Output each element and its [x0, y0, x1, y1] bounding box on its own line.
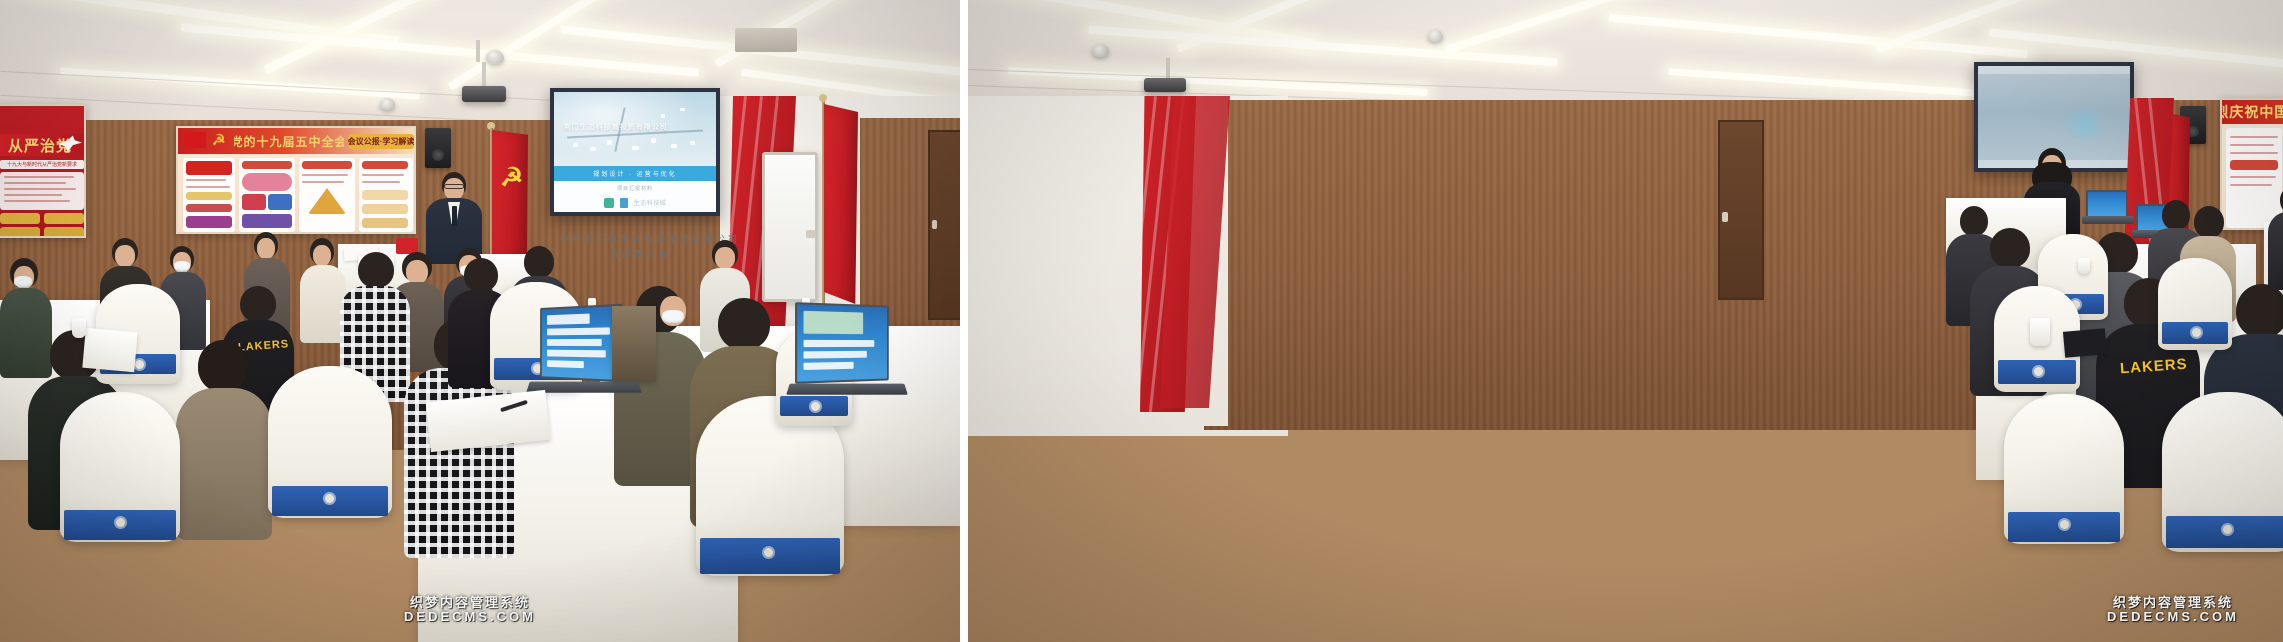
wall-speaker — [425, 128, 451, 168]
door — [1718, 120, 1764, 300]
ceiling-vent — [735, 28, 797, 52]
dome-camera-icon — [486, 50, 504, 64]
chair-sash — [272, 486, 388, 516]
wall-text-line-2: 支部委员会 — [560, 247, 720, 262]
slide-surface: 荆门生态科技城投资有限公司 规划设计 · 运营与优化 项目汇报材料 生态科技城 — [554, 92, 716, 212]
poster-fifth-plenary: ☭ 党的十九届五中全会 会议公报·学习解读 — [176, 126, 416, 234]
flag-finial-right-icon — [819, 94, 827, 102]
poster-strict-governance: 从严治党 十九大与新时代从严治党新要求 — [0, 104, 86, 238]
chair-sash — [64, 510, 176, 540]
slide-logo-row: 生态科技城 — [604, 198, 667, 208]
face-mask-icon — [662, 310, 684, 323]
face-mask-icon — [174, 261, 190, 271]
brochure — [612, 306, 656, 382]
chair-sash — [2162, 322, 2228, 344]
dome-camera-icon — [1092, 44, 1109, 57]
paper-cup — [2030, 318, 2050, 346]
attendee — [176, 340, 272, 540]
chair-sash — [780, 396, 848, 416]
attendee — [2268, 186, 2283, 290]
slide-aerial-render: 荆门生态科技城投资有限公司 — [554, 92, 716, 166]
party-emblem-icon: ☭ — [212, 133, 225, 148]
projector-mount — [1166, 58, 1170, 80]
projector-mount — [482, 62, 486, 88]
national-flag-right — [824, 104, 858, 304]
poster-main-chip: 会议公报·学习解读 — [348, 134, 414, 149]
slide-title: 荆门生态科技城投资有限公司 — [564, 122, 668, 132]
chair-sash — [2166, 516, 2283, 548]
ceiling-projector — [1144, 78, 1186, 92]
slide-logo-text: 生态科技城 — [634, 198, 667, 207]
watermark-right: 织梦内容管理系统 DEDECMS.COM — [2058, 596, 2283, 623]
poster-centenary-title: 热烈庆祝中国共产党成立100周年 — [2222, 102, 2283, 122]
photo-divider — [960, 0, 968, 642]
whiteboard — [762, 152, 818, 302]
door-handle — [932, 220, 937, 229]
paper-cup — [72, 318, 86, 338]
ceiling-sensor-icon — [1428, 30, 1443, 42]
watermark-cn: 织梦内容管理系统 — [2058, 596, 2283, 610]
laptop-keyboard — [786, 384, 908, 395]
logo-mark-green-icon — [604, 198, 614, 208]
glasses-icon — [444, 184, 464, 189]
projection-screen: 荆门生态科技城投资有限公司 规划设计 · 运营与优化 项目汇报材料 生态科技城 — [550, 88, 720, 216]
wall-text-line-1: 中共荆门生态科技城投资有限公司 — [560, 232, 720, 247]
laptop-screen — [795, 302, 889, 384]
tablet — [2063, 328, 2107, 358]
laptop-screen — [2086, 190, 2128, 218]
left-photo: 荆门生态科技城投资有限公司 规划设计 · 运营与优化 项目汇报材料 生态科技城 … — [0, 0, 960, 642]
face-mask-icon — [14, 276, 32, 287]
chair-sash — [2008, 512, 2120, 542]
necktie — [452, 206, 457, 226]
logo-mark-blue-icon — [620, 198, 628, 208]
notebook — [82, 328, 137, 372]
ceiling-projector — [462, 86, 506, 102]
paper-cup — [2078, 258, 2090, 274]
chair-sash — [1998, 360, 2076, 384]
door-handle — [1722, 212, 1728, 222]
poster-red-subtitle: 十九大与新时代从严治党新要求 — [0, 160, 84, 169]
laptop-screen — [540, 304, 623, 382]
slide-subtitle: 项目汇报材料 — [617, 185, 653, 192]
laptop-keyboard — [2082, 216, 2134, 224]
poster-main-title: 党的十九届五中全会 — [234, 132, 344, 150]
whiteboard-tray — [806, 230, 816, 238]
right-photo: 中共荆门生 热烈庆祝中国共产党成立100周年 ☭ — [968, 0, 2283, 642]
chair-sash — [700, 538, 840, 574]
watermark-en: DEDECMS.COM — [2058, 610, 2283, 624]
slide-band-text: 规划设计 · 运营与优化 — [554, 166, 716, 180]
presenter-face — [444, 178, 464, 200]
ceiling-sensor-icon — [380, 98, 395, 110]
wall-text-block: 中共荆门生态科技城投资有限公司 支部委员会 — [560, 232, 720, 263]
camera-mount — [476, 40, 480, 62]
hammer-sickle-icon: ☭ — [500, 164, 523, 190]
photo-pair-container: 荆门生态科技城投资有限公司 规划设计 · 运营与优化 项目汇报材料 生态科技城 … — [0, 0, 2283, 642]
